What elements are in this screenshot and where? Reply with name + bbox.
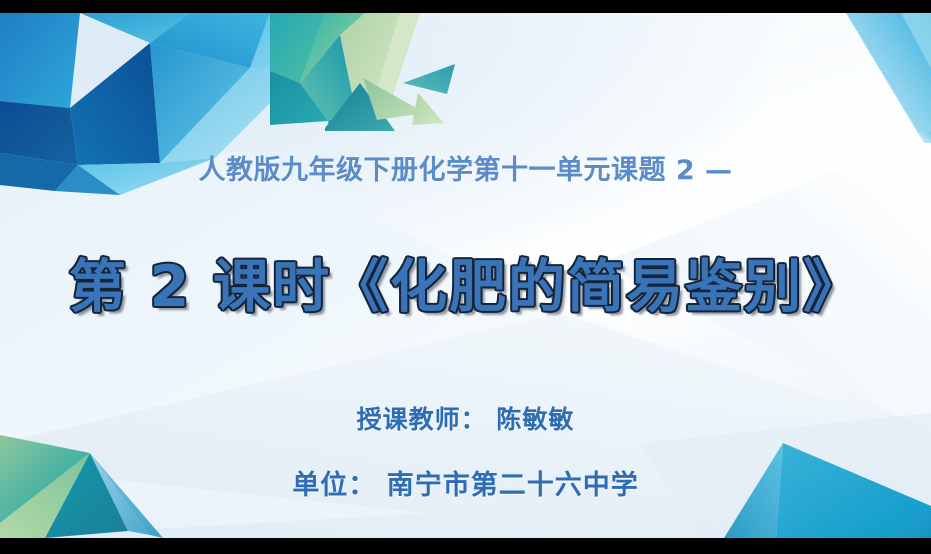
letterbox-bar-bottom [0, 538, 931, 554]
floating-triangle-small-green [410, 93, 455, 138]
letterbox-bar-top [0, 0, 931, 13]
bottom-left-triangle-fan [0, 413, 200, 538]
slide-canvas: 人教版九年级下册化学第十一单元课题 2 — 第 2 课时《化肥的简易鉴别》 授课… [0, 13, 931, 538]
presentation-slide: 人教版九年级下册化学第十一单元课题 2 — 第 2 课时《化肥的简易鉴别》 授课… [0, 0, 931, 554]
top-right-sliver [696, 13, 931, 143]
bottom-right-triangle-fan [676, 428, 931, 538]
